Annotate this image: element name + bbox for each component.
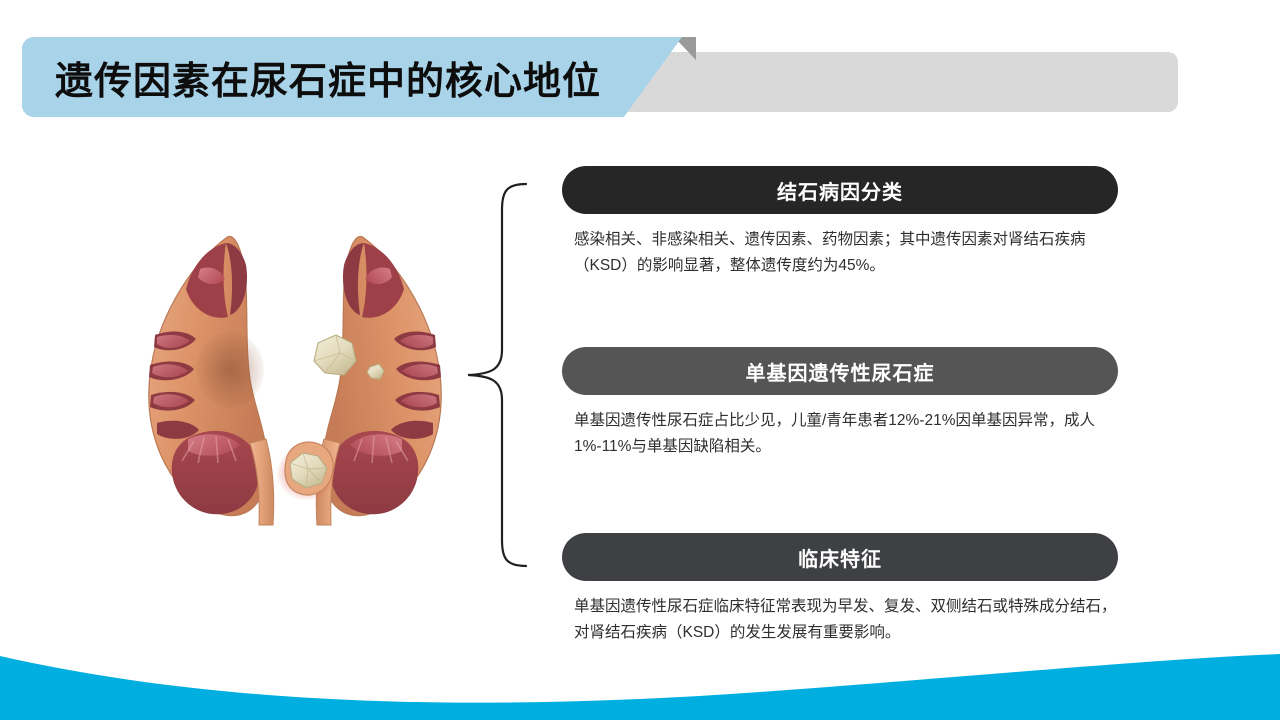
card-3-heading-label: 临床特征 [798,543,882,572]
curly-brace-connector [462,180,532,570]
card-2-heading-pill[interactable]: 单基因遗传性尿石症 [562,347,1118,395]
ureteral-stone [276,442,336,501]
card-3-heading-pill[interactable]: 临床特征 [562,533,1118,581]
right-kidney [316,237,441,525]
card-1-heading-label: 结石病因分类 [777,176,903,205]
page-title: 遗传因素在尿石症中的核心地位 [55,37,601,117]
info-card-2: 单基因遗传性尿石症 单基因遗传性尿石症占比少见，儿童/青年患者12%-21%因单… [562,347,1126,460]
title-band: 遗传因素在尿石症中的核心地位 [0,30,1280,122]
bottom-wave-decoration [0,620,1280,720]
card-2-body-text: 单基因遗传性尿石症占比少见，儿童/青年患者12%-21%因单基因异常，成人1%-… [562,408,1126,460]
title-gray-bar [620,52,1178,112]
kidney-illustration [130,225,460,535]
card-2-heading-label: 单基因遗传性尿石症 [746,357,935,386]
left-kidney [149,237,274,525]
card-1-heading-pill[interactable]: 结石病因分类 [562,166,1118,214]
info-card-1: 结石病因分类 感染相关、非感染相关、遗传因素、药物因素；其中遗传因素对肾结石疾病… [562,166,1126,279]
card-1-body-text: 感染相关、非感染相关、遗传因素、药物因素；其中遗传因素对肾结石疾病（KSD）的影… [562,227,1126,279]
